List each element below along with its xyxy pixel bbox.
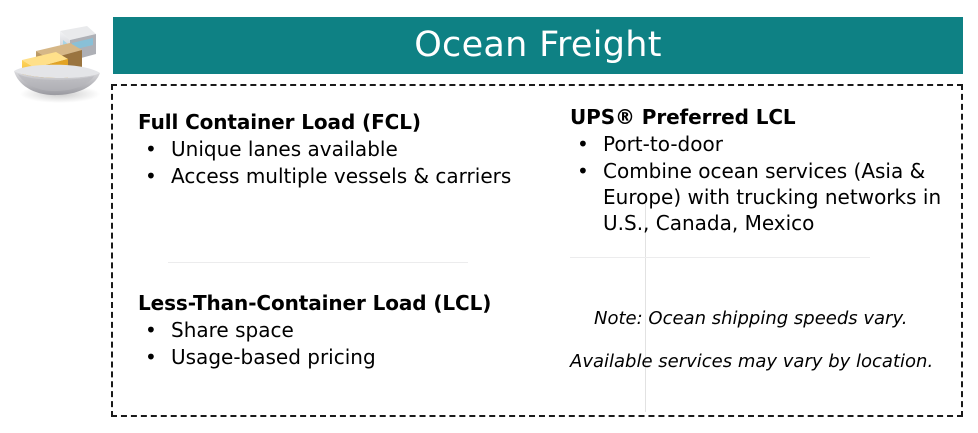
list-item-label: Share space (171, 318, 294, 342)
bullet-icon: • (145, 317, 157, 343)
list-item-label: Access multiple vessels & carriers (171, 164, 511, 188)
list-item-label: Unique lanes available (171, 137, 398, 161)
content-panel: Full Container Load (FCL) • Unique lanes… (111, 84, 963, 417)
bullet-icon: • (145, 163, 157, 189)
page-title: Ocean Freight (414, 28, 662, 63)
list-item: • Port-to-door (570, 131, 947, 157)
right-column: UPS® Preferred LCL • Port-to-door • Comb… (534, 86, 961, 415)
section-fcl-title: Full Container Load (FCL) (138, 110, 516, 134)
bullet-icon: • (577, 158, 589, 184)
bullet-icon: • (145, 344, 157, 370)
bullet-icon: • (577, 131, 589, 157)
section-lcl-title: Less-Than-Container Load (LCL) (138, 291, 533, 315)
section-ups-preferred-lcl-title: UPS® Preferred LCL (570, 105, 947, 129)
note-shipping-speeds: Note: Ocean shipping speeds vary. (594, 307, 907, 330)
list-item: • Share space (138, 317, 533, 343)
list-item: • Unique lanes available (138, 136, 516, 162)
list-item: • Combine ocean services (Asia & Europe)… (570, 158, 947, 236)
section-lcl-bullets: • Share space • Usage-based pricing (138, 317, 533, 370)
ocean-freight-banner: Ocean Freight (113, 17, 963, 74)
bullet-icon: • (145, 136, 157, 162)
list-item-label: Usage-based pricing (171, 345, 376, 369)
list-item-label: Combine ocean services (Asia & Europe) w… (603, 159, 941, 235)
note-service-availability: Available services may vary by location. (570, 350, 933, 373)
section-fcl: Full Container Load (FCL) • Unique lanes… (138, 110, 516, 189)
list-item-label: Port-to-door (603, 132, 723, 156)
left-column: Full Container Load (FCL) • Unique lanes… (113, 86, 534, 415)
section-ups-preferred-lcl-bullets: • Port-to-door • Combine ocean services … (570, 131, 947, 236)
cargo-ship-icon (8, 14, 106, 106)
section-fcl-bullets: • Unique lanes available • Access multip… (138, 136, 516, 189)
left-section-divider (168, 262, 468, 263)
list-item: • Access multiple vessels & carriers (138, 163, 516, 189)
list-item: • Usage-based pricing (138, 344, 533, 370)
right-section-divider (570, 257, 870, 258)
section-ups-preferred-lcl: UPS® Preferred LCL • Port-to-door • Comb… (570, 105, 947, 236)
section-lcl: Less-Than-Container Load (LCL) • Share s… (138, 291, 533, 371)
